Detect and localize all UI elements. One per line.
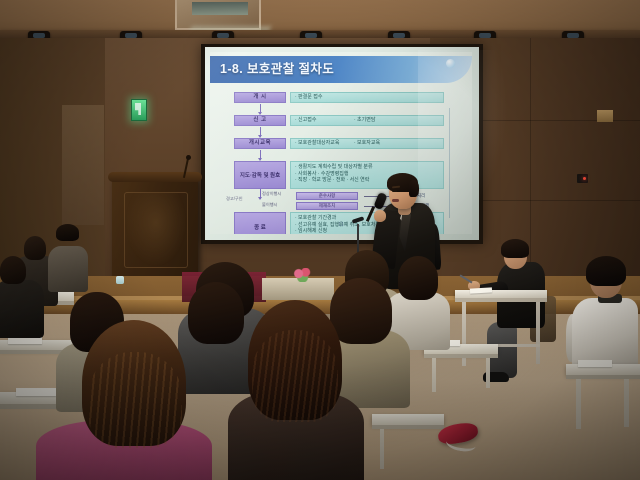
cup bbox=[116, 276, 124, 284]
table-leg bbox=[536, 302, 540, 364]
slide-page-number: 11 bbox=[328, 222, 354, 228]
wall-plate bbox=[597, 110, 613, 122]
slide-corner-badge-icon bbox=[446, 59, 455, 68]
desk-leg bbox=[576, 379, 581, 429]
flow-stage-label: 지도·감독 및 원호 bbox=[234, 161, 286, 189]
flow-row-body: · 판결문 접수 bbox=[290, 92, 444, 103]
observer-hair bbox=[501, 239, 529, 258]
podium-microphone-head-icon bbox=[186, 155, 191, 160]
flow-arrow-icon bbox=[260, 150, 261, 160]
attendee-head bbox=[24, 236, 46, 260]
flow-arrow-icon bbox=[260, 127, 261, 137]
presenter-hair-side bbox=[409, 180, 419, 197]
flow-row-label: 개 시 bbox=[234, 92, 286, 103]
flow-stage-body: · 생활지도 계획수립 및 대상자별 분류 · 사회봉사 · 수강명령집행 · … bbox=[290, 161, 444, 189]
ceiling bbox=[0, 0, 640, 34]
status-led-icon bbox=[583, 177, 586, 180]
paper-sheet bbox=[16, 388, 56, 396]
lecture-hall-photo: 1-8. 보호관찰 절차도 개 시 · 판결문 접수 신 고 · 신고접수 · … bbox=[0, 0, 640, 480]
stage-line: · 직장 · 학교 방문 · 전화 · 서신 연락 bbox=[295, 177, 443, 184]
branch-option-label: 제재조치 bbox=[296, 202, 358, 210]
desk bbox=[372, 414, 444, 425]
attendee-hair bbox=[398, 256, 438, 300]
flow-row-extra: · 보호자교육 bbox=[354, 139, 380, 148]
branch-note-top: 정상이행시 bbox=[262, 191, 281, 196]
podium-top bbox=[108, 172, 202, 182]
flow-row-label: 개시교육 bbox=[234, 138, 286, 149]
projector-vent-icon bbox=[192, 2, 248, 15]
attendee-hair bbox=[586, 256, 626, 286]
branch-note-bottom: 불이행시 bbox=[262, 202, 277, 207]
flower-arrangement bbox=[292, 268, 314, 282]
attendee-hair bbox=[188, 282, 244, 344]
flow-row-extra: · 초기면담 bbox=[354, 116, 375, 125]
flow-row-label: 신 고 bbox=[234, 115, 286, 126]
flow-row: 신 고 · 신고접수 · 초기면담 bbox=[234, 115, 444, 126]
podium-front-panel bbox=[124, 192, 188, 268]
flow-row: 개 시 · 판결문 접수 bbox=[234, 92, 444, 103]
paper-sheet bbox=[578, 360, 612, 367]
branch-note-left: 경고/구인 bbox=[226, 196, 243, 201]
presenter-hand bbox=[374, 210, 386, 222]
observer-table-edge bbox=[455, 298, 547, 302]
attendee-hair-strands bbox=[252, 330, 338, 422]
attendee-head bbox=[0, 256, 26, 284]
attendee-torso bbox=[0, 280, 44, 338]
slide-vertical-rule bbox=[449, 108, 450, 218]
slide-title: 1-8. 보호관찰 절차도 bbox=[220, 60, 430, 79]
branch-option-label: 준수사항 bbox=[296, 192, 358, 200]
observer-table bbox=[455, 290, 547, 298]
flow-arrow-icon bbox=[260, 104, 261, 114]
attendee-hair bbox=[330, 278, 392, 344]
left-wall-panel bbox=[62, 105, 104, 225]
desk-leg bbox=[432, 358, 436, 392]
presentation-slide: 1-8. 보호관찰 절차도 개 시 · 판결문 접수 신 고 · 신고접수 · … bbox=[210, 52, 472, 234]
attendee-torso bbox=[48, 246, 88, 292]
desk-leg bbox=[624, 379, 629, 427]
attendee-hair-strands bbox=[88, 352, 182, 448]
flow-arrow-icon bbox=[260, 189, 261, 199]
flow-row: 개시교육 · 보호관찰대상자교육 · 보호자교육 bbox=[234, 138, 444, 149]
projection-screen: 1-8. 보호관찰 절차도 개 시 · 판결문 접수 신 고 · 신고접수 · … bbox=[205, 47, 479, 240]
desk-leg bbox=[486, 358, 490, 388]
presenter-mouth bbox=[392, 199, 399, 202]
presenter-eye bbox=[392, 190, 397, 192]
attendee-hair bbox=[56, 224, 79, 241]
flow-final-label: 종 료 bbox=[234, 212, 286, 234]
desk-leg bbox=[380, 429, 384, 469]
